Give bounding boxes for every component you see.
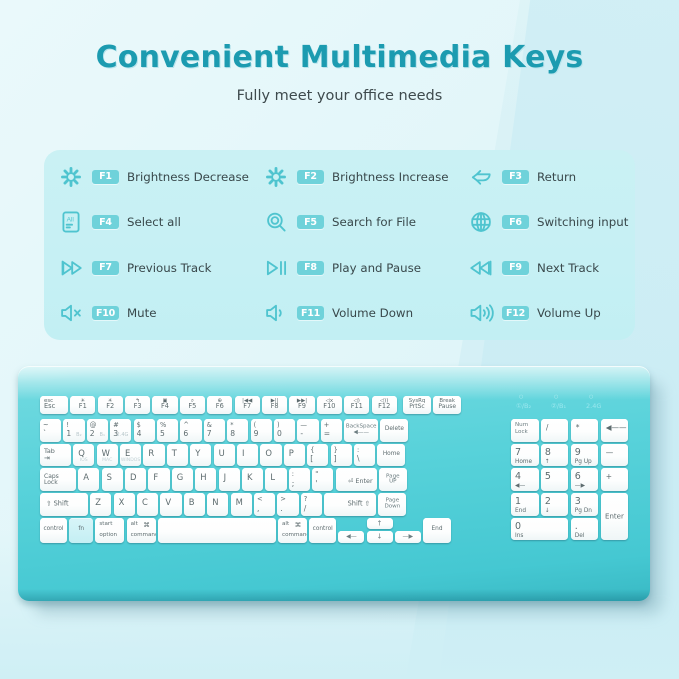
key-e: EWINDOS <box>120 444 141 467</box>
feature-row: F1Brightness DecreaseF2Brightness Increa… <box>44 154 635 200</box>
feature-item-f9: F9Next Track <box>454 255 635 281</box>
feature-item-f4: AllF4Select all <box>44 209 249 235</box>
key-esc: escEsc <box>40 396 68 414</box>
key-y: Y <box>190 444 211 467</box>
key-f12: ◁))F12 <box>372 396 397 414</box>
key-control: control <box>309 518 336 543</box>
key-j: J <box>219 468 240 491</box>
key-c: C <box>137 493 158 516</box>
key-2: @2B₁ <box>87 419 108 442</box>
volume-down-icon <box>263 300 289 326</box>
key-enter: ⏎ Enter <box>336 468 377 491</box>
key-8: *8 <box>227 419 248 442</box>
key-pause: BreakPause <box>433 396 461 414</box>
feature-label: Switching input <box>537 215 628 229</box>
numpad-key--: + <box>601 468 629 491</box>
key-0: )0 <box>274 419 295 442</box>
page-background: Convenient Multimedia Keys Fully meet yo… <box>0 0 679 679</box>
brightness-decrease-icon <box>58 164 84 190</box>
feature-item-f1: F1Brightness Decrease <box>44 164 249 190</box>
multimedia-keys-panel: F1Brightness DecreaseF2Brightness Increa… <box>44 150 635 340</box>
feature-item-f12: F12Volume Up <box>454 300 635 326</box>
key-f8: ▶||F8 <box>262 396 287 414</box>
key-f6: ⊕F6 <box>207 396 232 414</box>
keyboard-body: escEsc☀F1☀F2↰F3▣F4⌕F5⊕F6|◀◀F7▶||F8▶▶|F9◁… <box>18 366 650 601</box>
feature-item-f8: F8Play and Pause <box>249 255 454 281</box>
numpad-key-6: 6—▶ <box>571 468 599 491</box>
feature-label: Search for File <box>332 215 416 229</box>
key-h: H <box>195 468 216 491</box>
key-;: :; <box>289 468 310 491</box>
key-\: :\ <box>354 444 375 467</box>
status-indicator-3: ○2.4G <box>586 402 601 410</box>
key-f7: |◀◀F7 <box>235 396 260 414</box>
feature-item-f3: F3Return <box>454 164 635 190</box>
key-u: U <box>214 444 235 467</box>
key-1: !1B₂ <box>63 419 84 442</box>
key-w: WMAC <box>97 444 118 467</box>
return-icon <box>468 164 494 190</box>
key--: —- <box>297 419 318 442</box>
key-z: Z <box>90 493 111 516</box>
key-,: <, <box>254 493 275 516</box>
feature-label: Return <box>537 170 576 184</box>
keyboard-bottom-edge <box>18 589 650 601</box>
numpad-key-7: 7Home <box>511 444 539 467</box>
key-5: %5 <box>157 419 178 442</box>
feature-label: Brightness Decrease <box>127 170 249 184</box>
key-': "' <box>312 468 333 491</box>
key-b: B <box>184 493 205 516</box>
key-End: End <box>423 518 451 543</box>
fkey-badge: F1 <box>92 170 119 184</box>
key-home: Home <box>377 444 405 467</box>
key-space <box>158 518 276 543</box>
feature-row: F7Previous TrackF8Play and PauseF9Next T… <box>44 245 635 291</box>
search-file-icon <box>263 209 289 235</box>
key-q: QIOS <box>73 444 94 467</box>
key-[: {[ <box>307 444 328 467</box>
feature-item-f11: F11Volume Down <box>249 300 454 326</box>
play-pause-icon <box>263 255 289 281</box>
svg-text:All: All <box>67 217 75 224</box>
next-track-icon <box>468 255 494 281</box>
numpad-key--: ◀—— <box>601 419 629 442</box>
key-v: V <box>160 493 181 516</box>
key-x: X <box>114 493 135 516</box>
numpad-key-5: 5 <box>541 468 569 491</box>
numpad-key-0: 0Ins <box>511 518 568 541</box>
fkey-badge: F10 <box>92 306 119 320</box>
keyboard-keys-area: escEsc☀F1☀F2↰F3▣F4⌕F5⊕F6|◀◀F7▶||F8▶▶|F9◁… <box>18 366 650 601</box>
key-shift-left: ⇧ Shift <box>40 493 88 516</box>
fkey-badge: F7 <box>92 261 119 275</box>
key-option: startoption <box>95 518 124 543</box>
key-command: alt⌘command <box>127 518 156 543</box>
key-s: S <box>102 468 123 491</box>
key-arrow: —▶ <box>395 531 421 543</box>
key-control: control <box>40 518 67 543</box>
mute-icon <box>58 300 84 326</box>
key-=: += <box>321 419 342 442</box>
key-f11: ◁)F11 <box>344 396 369 414</box>
fkey-badge: F2 <box>297 170 324 184</box>
feature-item-f2: F2Brightness Increase <box>249 164 454 190</box>
key-fn: fn <box>69 518 93 543</box>
key-o: O <box>260 444 281 467</box>
feature-item-f5: F5Search for File <box>249 209 454 235</box>
feature-row: F10MuteF11Volume DownF12Volume Up <box>44 291 635 337</box>
numpad-key-1: 1End <box>511 493 539 516</box>
fkey-badge: F9 <box>502 261 529 275</box>
key-f4: ▣F4 <box>152 396 177 414</box>
page-subtitle: Fully meet your office needs <box>0 88 679 104</box>
header: Convenient Multimedia Keys Fully meet yo… <box>0 40 679 104</box>
fkey-badge: F11 <box>297 306 324 320</box>
page-title: Convenient Multimedia Keys <box>0 40 679 75</box>
key-i: I <box>237 444 258 467</box>
keyboard-illustration: escEsc☀F1☀F2↰F3▣F4⌕F5⊕F6|◀◀F7▶||F8▶▶|F9◁… <box>18 366 658 611</box>
key-d: D <box>125 468 146 491</box>
key-`: ~` <box>40 419 61 442</box>
key-page-down: PageDown <box>378 493 406 516</box>
numpad-key-9: 9Pg Up <box>571 444 599 467</box>
key-m: M <box>231 493 252 516</box>
key-f3: ↰F3 <box>125 396 150 414</box>
key-p: P <box>284 444 305 467</box>
feature-label: Next Track <box>537 261 599 275</box>
key-f1: ☀F1 <box>70 396 95 414</box>
feature-label: Play and Pause <box>332 261 421 275</box>
key-f5: ⌕F5 <box>180 396 205 414</box>
numpad-key-2: 2↓ <box>541 493 569 516</box>
feature-label: Volume Up <box>537 306 601 320</box>
key-caps-lock: PageUP <box>379 468 407 491</box>
feature-item-f6: F6Switching input <box>454 209 635 235</box>
numpad-key-num-lock: NumLock <box>511 419 539 442</box>
status-indicator-1: ○①/B₂ <box>516 402 531 410</box>
fkey-badge: F3 <box>502 170 529 184</box>
key-tab: Tab⇥ <box>40 444 71 467</box>
key-f10: ◁xF10 <box>317 396 342 414</box>
key-.: >. <box>277 493 298 516</box>
key-r: R <box>143 444 164 467</box>
key-3: #32.4G <box>110 419 131 442</box>
key-arrow-up: ↑ <box>367 518 393 530</box>
feature-row: AllF4Select allF5Search for FileF6Switch… <box>44 200 635 246</box>
key-a: A <box>78 468 99 491</box>
feature-item-f10: F10Mute <box>44 300 249 326</box>
key-l: L <box>265 468 286 491</box>
status-indicator-2: ○②/B₁ <box>551 402 566 410</box>
fkey-badge: F4 <box>92 215 119 229</box>
key-backspace: BackSpace◀—— <box>344 419 378 442</box>
key-k: K <box>242 468 263 491</box>
select-all-icon: All <box>58 209 84 235</box>
numpad-key--: .Del <box>571 518 599 541</box>
key-caps-lock: CapsLock <box>40 468 76 491</box>
numpad-key--: * <box>571 419 599 442</box>
key-4: $4 <box>134 419 155 442</box>
key-7: &7 <box>204 419 225 442</box>
key-9: (9 <box>251 419 272 442</box>
previous-track-icon <box>58 255 84 281</box>
numpad-key-4: 4◀— <box>511 468 539 491</box>
key-f2: ☀F2 <box>98 396 123 414</box>
numpad-key-8: 8↑ <box>541 444 569 467</box>
key-]: }] <box>331 444 352 467</box>
numpad-key-enter: Enter <box>601 493 629 540</box>
numpad-key-3: 3Pg Dn <box>571 493 599 516</box>
switching-input-icon <box>468 209 494 235</box>
fkey-badge: F6 <box>502 215 529 229</box>
key-arrow: ◀— <box>338 531 364 543</box>
key-n: N <box>207 493 228 516</box>
feature-item-f7: F7Previous Track <box>44 255 249 281</box>
feature-label: Mute <box>127 306 157 320</box>
fkey-badge: F8 <box>297 261 324 275</box>
brightness-increase-icon <box>263 164 289 190</box>
key-6: ^6 <box>180 419 201 442</box>
key-prtsc: SysRqPrtSc <box>403 396 431 414</box>
key-shift-right: Shift ⇧ <box>324 493 376 516</box>
feature-label: Volume Down <box>332 306 413 320</box>
fkey-badge: F5 <box>297 215 324 229</box>
key-command: alt⌘command <box>278 518 307 543</box>
key-f: F <box>148 468 169 491</box>
fkey-badge: F12 <box>502 306 529 320</box>
volume-up-icon <box>468 300 494 326</box>
key-arrow-down: ↓ <box>367 531 393 543</box>
feature-label: Select all <box>127 215 181 229</box>
key-t: T <box>167 444 188 467</box>
numpad-key--: — <box>601 444 629 467</box>
key-delete: Delete <box>380 419 408 442</box>
feature-label: Previous Track <box>127 261 211 275</box>
key-g: G <box>172 468 193 491</box>
key-/: ?/ <box>301 493 322 516</box>
feature-label: Brightness Increase <box>332 170 449 184</box>
key-f9: ▶▶|F9 <box>289 396 314 414</box>
numpad-key--: / <box>541 419 569 442</box>
